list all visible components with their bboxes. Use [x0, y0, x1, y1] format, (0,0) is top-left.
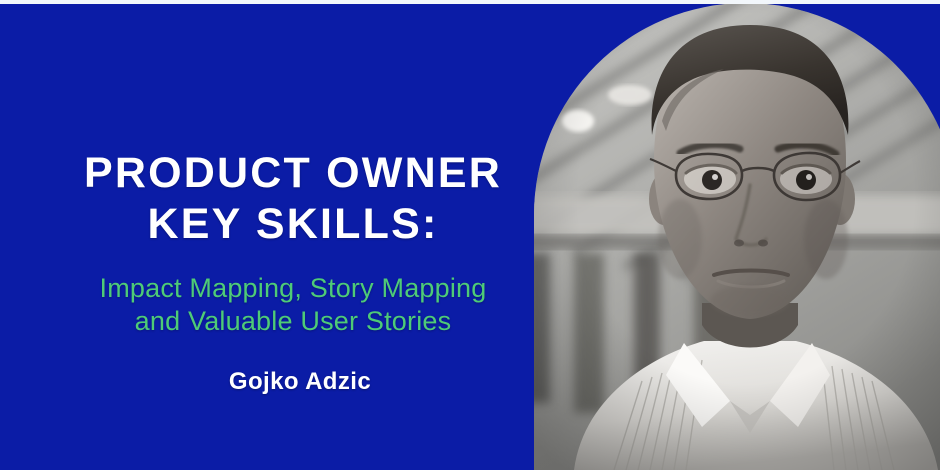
- headline-line-1: PRODUCT OWNER: [84, 149, 502, 197]
- subtitle: Impact Mapping, Story Mapping and Valuab…: [0, 272, 586, 338]
- subtitle-line-2: and Valuable User Stories: [0, 305, 586, 338]
- top-edge-strip: [0, 0, 940, 4]
- headline-line-2: KEY SKILLS:: [0, 199, 586, 250]
- subtitle-line-1: Impact Mapping, Story Mapping: [100, 273, 487, 303]
- speaker-announcement-banner: PRODUCT OWNER KEY SKILLS: Impact Mapping…: [0, 0, 940, 470]
- portrait-photo-gojko-adzic: [534, 3, 940, 470]
- headline: PRODUCT OWNER KEY SKILLS:: [0, 148, 586, 250]
- text-block: PRODUCT OWNER KEY SKILLS: Impact Mapping…: [0, 0, 586, 470]
- speaker-name: Gojko Adzic: [0, 368, 600, 396]
- portrait-bleed-container: [534, 3, 940, 470]
